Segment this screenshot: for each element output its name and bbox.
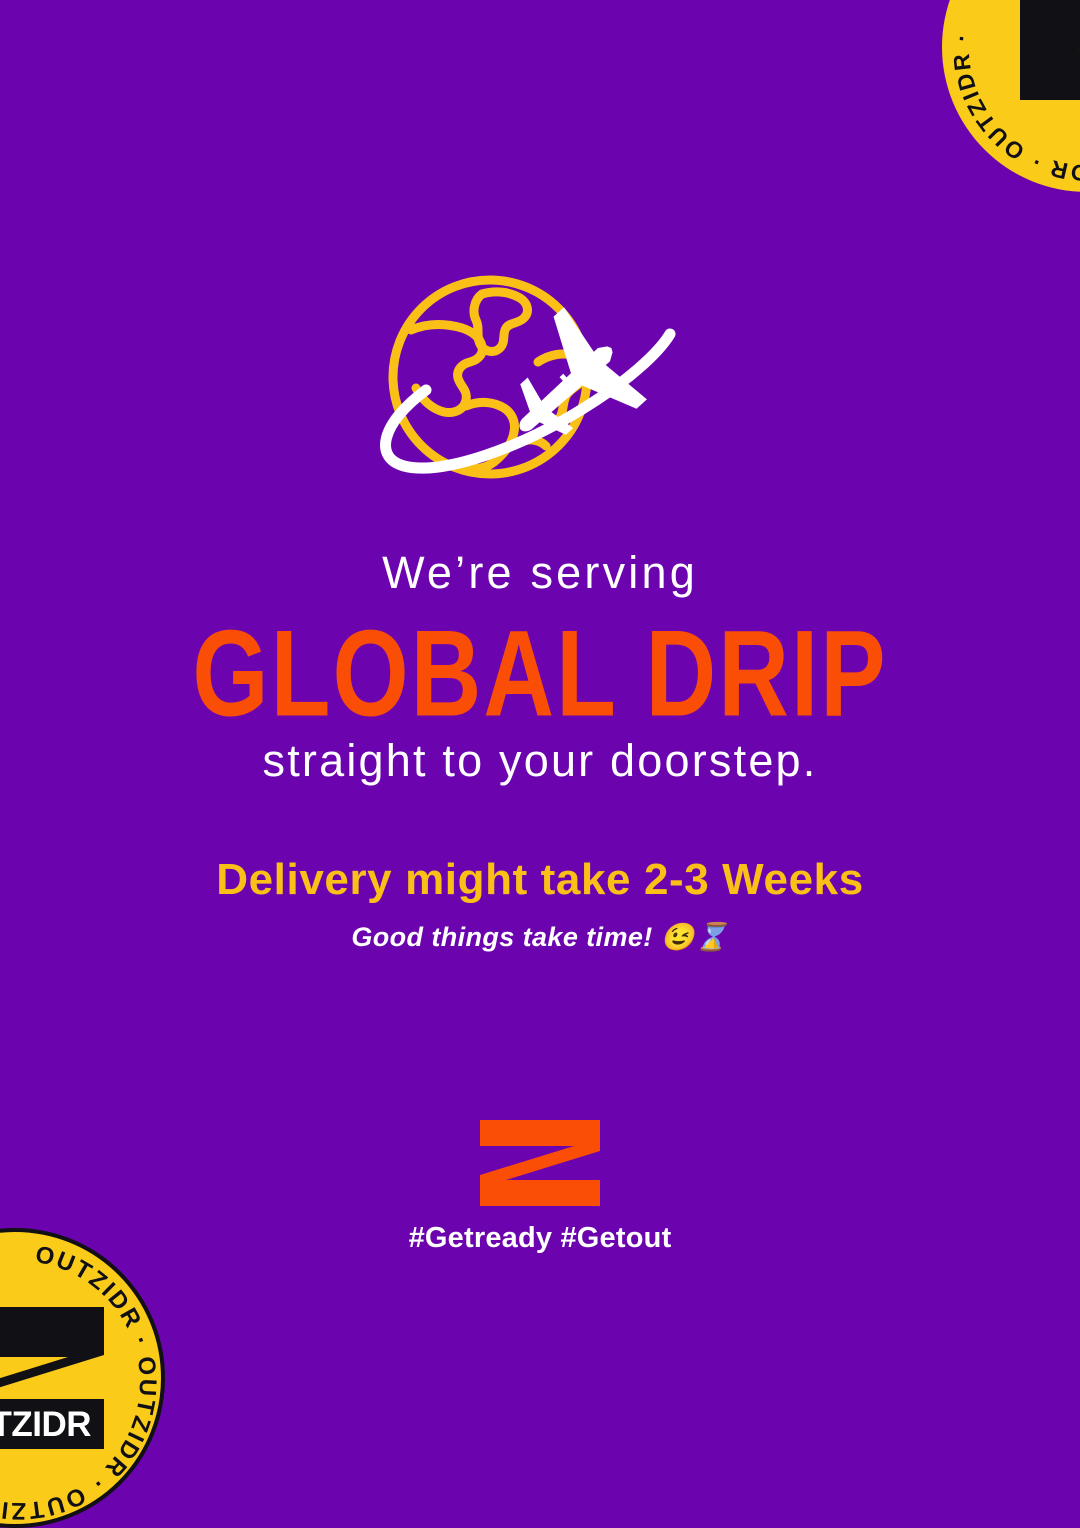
- globe-with-airplane-icon: [370, 272, 710, 497]
- footer-block: #Getready #Getout: [0, 1118, 1080, 1255]
- delivery-tagline: Good things take time! 😉⌛: [0, 923, 1080, 953]
- delivery-estimate: Delivery might take 2-3 Weeks: [0, 856, 1080, 904]
- headline-kicker: We’re serving: [0, 549, 1080, 597]
- headline-main: GLOBAL DRIP: [0, 613, 1080, 736]
- globe-icon: [393, 280, 587, 474]
- z-logo-icon-footer: [478, 1118, 602, 1208]
- badge-wordmark: OUTZIDR: [0, 1405, 91, 1444]
- footer-hashtags: #Getready #Getout: [409, 1222, 672, 1255]
- delivery-info-block: Delivery might take 2-3 Weeks Good thing…: [0, 856, 1080, 952]
- hero-icon-wrapper: [370, 272, 710, 497]
- headline-block: We’re serving GLOBAL DRIP straight to yo…: [0, 549, 1080, 784]
- headline-sub: straight to your doorstep.: [0, 737, 1080, 785]
- sticker-badge-bottom-left: OUTZIDR · OUTZIDR · OUTZIDR · OUTZIDR · …: [0, 1228, 165, 1528]
- z-logo-with-wordmark-icon: OUTZIDR: [0, 1303, 108, 1453]
